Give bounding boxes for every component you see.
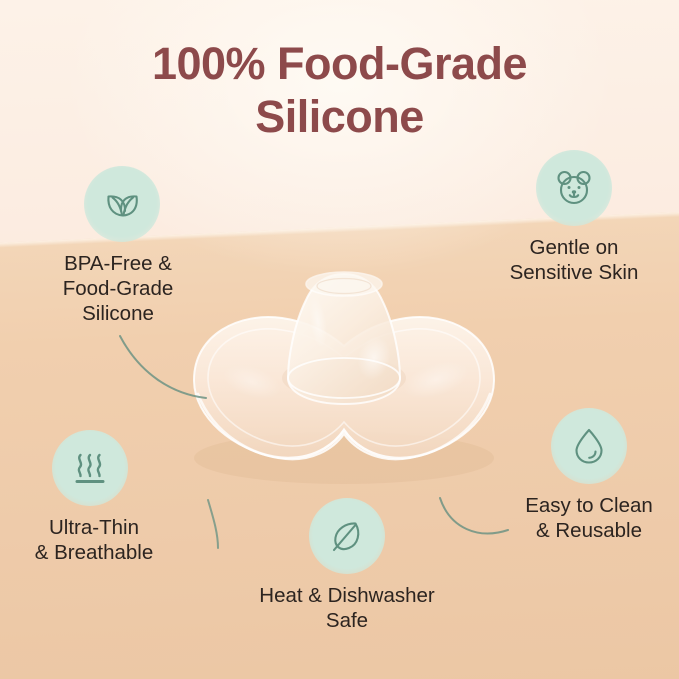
silicone-shield-illustration — [178, 262, 510, 498]
badge-ultra-thin — [52, 430, 128, 506]
feature-label-gentle-skin: Gentle on Sensitive Skin — [474, 235, 674, 285]
badge-heat-dishwasher — [309, 498, 385, 574]
feature-label-heat-dishwasher: Heat & Dishwasher Safe — [222, 583, 472, 633]
bear-face-icon — [551, 165, 597, 211]
feature-gentle-skin: Gentle on Sensitive Skin — [474, 150, 674, 285]
infographic-canvas: 100% Food-Grade Silicone — [0, 0, 679, 679]
leaf-icon — [325, 514, 369, 558]
badge-easy-clean — [551, 408, 627, 484]
feature-label-ultra-thin: Ultra-Thin & Breathable — [6, 515, 182, 565]
water-droplet-icon — [567, 424, 611, 468]
two-leaves-icon — [100, 182, 144, 226]
feature-heat-dishwasher: Heat & Dishwasher Safe — [222, 498, 472, 633]
feature-bpa-free: BPA-Free & Food-Grade Silicone — [22, 166, 214, 326]
page-title: 100% Food-Grade Silicone — [0, 38, 679, 143]
feature-ultra-thin: Ultra-Thin & Breathable — [6, 430, 182, 565]
product-image — [178, 262, 510, 498]
badge-gentle-skin — [536, 150, 612, 226]
feature-label-easy-clean: Easy to Clean & Reusable — [500, 493, 678, 543]
feature-easy-clean: Easy to Clean & Reusable — [500, 408, 678, 543]
steam-lines-icon — [69, 447, 111, 489]
feature-label-bpa-free: BPA-Free & Food-Grade Silicone — [22, 251, 214, 326]
badge-bpa-free — [84, 166, 160, 242]
